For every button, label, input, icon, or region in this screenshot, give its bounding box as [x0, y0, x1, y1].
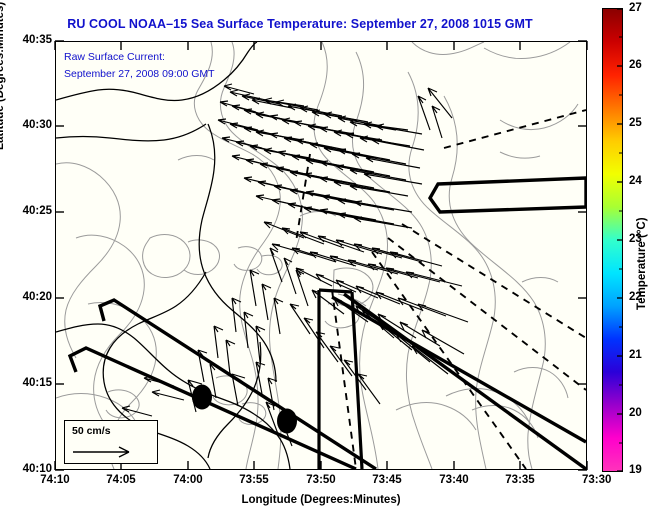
shipping-lane-polygons: [100, 178, 586, 469]
y-axis-labels: 40:35 40:30 40:25 40:20 40:15 40:10: [0, 0, 52, 518]
xtick-label: 73:35: [490, 474, 550, 486]
annotation-line-2: September 27, 2008 09:00 GMT: [64, 68, 215, 80]
map-plot-area[interactable]: Raw Surface Current: September 27, 2008 …: [55, 41, 587, 470]
ytick-label: 40:20: [10, 291, 52, 303]
ytick-label: 40:35: [10, 34, 52, 46]
colorbar-tick-label: 26: [629, 59, 651, 71]
xtick-label: 73:50: [291, 474, 351, 486]
colorbar-tick-label: 21: [629, 349, 651, 361]
sst-map-figure: RU COOL NOAA–15 Sea Surface Temperature:…: [0, 0, 651, 518]
velocity-scale-arrow-icon: [71, 441, 163, 463]
xtick-label: 73:30: [582, 474, 616, 486]
xtick-label: 74:05: [91, 474, 151, 486]
colorbar-title: Temperature (°C): [636, 217, 648, 310]
colorbar-tick-label: 19: [629, 464, 651, 476]
xtick-label: 73:40: [424, 474, 484, 486]
annotation-line-1: Raw Surface Current:: [64, 51, 165, 63]
ytick-label: 40:30: [10, 119, 52, 131]
velocity-scale-label: 50 cm/s: [72, 425, 111, 437]
colorbar-tick-label: 24: [629, 175, 651, 187]
velocity-scale-legend: 50 cm/s: [64, 420, 158, 464]
colorbar-tick-label: 27: [629, 2, 651, 14]
page-title: RU COOL NOAA–15 Sea Surface Temperature:…: [0, 17, 600, 31]
xtick-label: 74:10: [25, 474, 85, 486]
shipping-lane-dashed-boundaries: [296, 110, 586, 469]
ytick-label: 40:25: [10, 205, 52, 217]
ytick-label: 40:15: [10, 377, 52, 389]
x-axis-title: Longitude (Degrees:Minutes): [55, 494, 587, 506]
colorbar-tick-label: 25: [629, 117, 651, 129]
colorbar-tick-label: 20: [629, 407, 651, 419]
xtick-label: 73:55: [224, 474, 284, 486]
x-axis-labels: 74:10 74:05 74:00 73:55 73:50 73:45 73:4…: [0, 474, 651, 492]
shipping-lane-vertical-polygon: [319, 290, 362, 469]
xtick-label: 73:45: [357, 474, 417, 486]
map-graphics: [56, 42, 586, 469]
y-axis-title: Latitude (Degrees:Minutes): [0, 2, 6, 150]
xtick-label: 74:00: [158, 474, 218, 486]
